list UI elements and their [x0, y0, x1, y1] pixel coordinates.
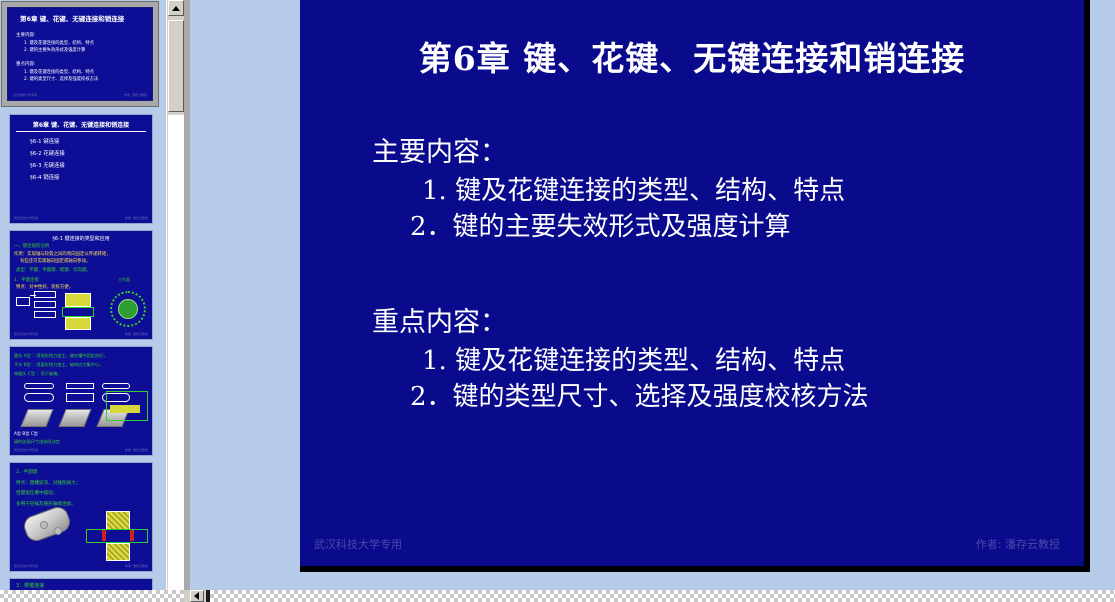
- section-1-item-1: 1. 键及花键连接的类型、结构、特点: [422, 170, 845, 207]
- thumbnail-2-footer-right: 作者: 潘存云教授: [125, 216, 148, 220]
- thumbnail-3-title: §6-1 键连接的类型和应用: [10, 235, 152, 242]
- thumbnail-3-footer-right: 作者: 潘存云教授: [125, 332, 148, 336]
- slide-footer-left: 武汉科技大学专用: [314, 536, 402, 552]
- thumbnail-4-keyview-c1: [102, 383, 130, 389]
- thumbnail-5-footer-left: 武汉科技大学专用: [14, 564, 38, 568]
- thumbnail-1-item-3: 1. 键及花键连接的类型、结构、特点: [24, 70, 94, 76]
- thumbnail-6-line-1: 3．楔键连接: [16, 582, 44, 589]
- thumbnail-4-footer-right: 作者: 潘存云教授: [125, 448, 148, 452]
- thumbnail-3-line-2: 作用：实现轴与轮毂之间的周向固定以传递转矩，: [14, 251, 111, 257]
- section-1-heading: 主要内容：: [372, 130, 507, 169]
- thumbnail-1-canvas: 第6章 键、花键、无键连接和销连接 主要内容: 1. 键及花键连接的类型、结构、…: [7, 7, 153, 101]
- thumbnail-2-item-2: §6-2 花键连接: [30, 149, 65, 157]
- slide-footer-right: 作者: 潘存云教授: [976, 536, 1060, 552]
- thumbnail-1-footer-right: 作者: 潘存云教授: [124, 93, 147, 97]
- thumbnail-3-hub-top: [65, 293, 91, 307]
- thumbnail-4-keyview-b1: [66, 383, 94, 389]
- bottom-right-strip: [210, 590, 1115, 602]
- thumbnail-4-line-4: A型 B型 C型: [14, 431, 38, 437]
- thumbnail-4-keyview-a2: [24, 393, 54, 402]
- thumbnail-3-hub-bottom: [65, 317, 91, 330]
- thumbnail-2-item-1: §6-1 键连接: [30, 137, 59, 145]
- thumbnail-3-line-1: 一、键连接的功用: [14, 243, 49, 249]
- scroll-up-button[interactable]: [168, 0, 184, 16]
- scrollbar-track[interactable]: [168, 115, 184, 590]
- thumbnail-3-shaft: [62, 307, 94, 317]
- thumbnail-1-heading-2: 重点内容:: [16, 62, 36, 68]
- thumbnail-5-line-2: 特点：键槽较深，对轴削弱大；: [16, 480, 80, 486]
- slide-thumbnail-2[interactable]: 第6章 键、花键、无键连接和销连接 §6-1 键连接 §6-2 花键连接 §6-…: [9, 114, 153, 224]
- thumbnail-3-callout: 工作面: [118, 277, 130, 283]
- slide-thumbnail-1[interactable]: 第6章 键、花键、无键连接和销连接 主要内容: 1. 键及花键连接的类型、结构、…: [2, 2, 158, 106]
- thumbnail-3-line-6: 特点：对中性好，装拆方便。: [16, 284, 73, 290]
- thumbnail-1-item-1: 1. 键及花键连接的类型、结构、特点: [24, 41, 94, 47]
- thumbnail-3-line-3: 有些还可实现轴向固定或轴向移动。: [20, 258, 90, 264]
- thumbnail-1-heading-1: 主要内容:: [16, 33, 36, 39]
- section-2-heading: 重点内容：: [372, 300, 507, 339]
- thumbnail-4-keyview-b2: [66, 393, 94, 402]
- slide-thumbnail-5[interactable]: 2．半圆键 特点：键槽较深，对轴削弱大； 但键能在槽中摆动。 多用于轻载及锥形轴…: [9, 462, 153, 572]
- thumbnail-3-diagram-box-b: [34, 291, 56, 298]
- thumbnail-3-diagram-box-d: [34, 311, 56, 318]
- thumbnail-3-footer-left: 武汉科技大学专用: [14, 332, 38, 336]
- section-1-item-2: 2．键的主要失效形式及强度计算: [410, 206, 791, 243]
- thumbnail-4-line-3: 单圆头 C型 ：用于轴端。: [14, 371, 61, 377]
- slide-thumbnail-3[interactable]: §6-1 键连接的类型和应用 一、键连接的功用 作用：实现轴与轮毂之间的周向固定…: [9, 230, 153, 340]
- section-2-item-2: 2．键的类型尺寸、选择及强度校核方法: [410, 376, 869, 413]
- slide-bottom-margin: [190, 572, 1115, 590]
- thumbnail-2-title: 第6章 键、花键、无键连接和销连接: [16, 120, 146, 132]
- chevron-left-icon: [194, 592, 199, 600]
- thumbnail-5-footer-right: 作者: 潘存云教授: [125, 564, 148, 568]
- slide-thumbnail-panel[interactable]: 第6章 键、花键、无键连接和销连接 主要内容: 1. 键及花键连接的类型、结构、…: [0, 0, 166, 590]
- thumbnail-3-diagram-box-a: [16, 297, 30, 306]
- thumbnail-3-gear-core: [118, 299, 138, 319]
- thumbnail-4-keyview-a1: [24, 383, 54, 389]
- thumbnail-1-item-4: 2. 键的类型尺寸、选择及强度校核方法: [24, 77, 98, 83]
- thumbnail-4-footer-left: 武汉科技大学专用: [14, 448, 38, 452]
- thumbnail-5-line-3: 但键能在槽中摆动。: [16, 490, 57, 496]
- chevron-up-icon: [172, 6, 180, 11]
- thumbnail-4-key-block-b: [58, 409, 91, 427]
- thumbnail-5-hub-upper: [106, 511, 130, 531]
- slide-thumbnail-4[interactable]: 圆头 A型 ：用指形铣刀加工，键在槽中固定良好， 平头 B型 ：用盘形铣刀加工，…: [9, 346, 153, 456]
- thumbnail-2-footer-left: 武汉科技大学专用: [14, 216, 38, 220]
- thumbnail-5-arrow-right: [130, 530, 134, 541]
- thumbnail-4-note-1: 键的剖面尺寸由轴径决定: [14, 439, 60, 445]
- thumbnail-3-diagram-box-c: [34, 301, 56, 308]
- thumbnail-4-line-2: 平头 B型 ：用盘形铣刀加工，轴的应力集中小。: [14, 362, 103, 368]
- thumbnail-1-footer-left: 武汉科技大学专用: [13, 93, 37, 97]
- thumbnail-4-line-1: 圆头 A型 ：用指形铣刀加工，键在槽中固定良好，: [14, 353, 107, 359]
- thumbnail-panel-scrollbar[interactable]: [166, 0, 185, 590]
- thumbnail-3-connector-1: [30, 295, 36, 296]
- thumbnail-3-line-5: 1．平键连接: [14, 277, 39, 283]
- slide-thumbnail-6[interactable]: 3．楔键连接 特点：键的上下面是工作面，能传递转矩、轴向力。: [9, 578, 153, 590]
- thumbnail-5-shaft: [86, 529, 148, 543]
- thumbnail-5-line-4: 多用于轻载及锥形轴端连接。: [16, 501, 76, 507]
- slide-title: 第6章 键、花键、无键连接和销连接: [300, 32, 1084, 80]
- thumbnail-2-item-3: §6-3 无键连接: [30, 161, 65, 169]
- thumbnail-5-hole-2: [54, 527, 62, 535]
- thumbnail-4-yellow-detail: [110, 405, 140, 413]
- bottom-left-strip: [0, 590, 184, 602]
- thumbnail-1-item-2: 2. 键的主要失效形式及强度计算: [24, 48, 85, 54]
- thumbnail-5-line-1: 2．半圆键: [16, 469, 37, 475]
- thumbnail-4-key-block-a: [20, 409, 53, 427]
- thumbnail-5-hub-lower: [106, 543, 130, 561]
- main-slide[interactable]: 第6章 键、花键、无键连接和销连接 主要内容： 1. 键及花键连接的类型、结构、…: [300, 0, 1090, 572]
- thumbnail-5-hole-1: [40, 521, 48, 529]
- application-window: 第6章 键、花键、无键连接和销连接 主要内容: 1. 键及花键连接的类型、结构、…: [0, 0, 1115, 602]
- thumbnail-5-arrow-left: [102, 530, 106, 541]
- scrollbar-thumb[interactable]: [168, 20, 184, 112]
- scroll-left-button[interactable]: [190, 590, 204, 602]
- thumbnail-2-item-4: §6-4 销连接: [30, 173, 59, 181]
- thumbnail-3-line-4: 类型：平键、半圆键、楔键、切向键。: [16, 267, 91, 273]
- section-2-item-1: 1. 键及花键连接的类型、结构、特点: [422, 340, 845, 377]
- thumbnail-1-title: 第6章 键、花键、无键连接和销连接: [20, 15, 144, 23]
